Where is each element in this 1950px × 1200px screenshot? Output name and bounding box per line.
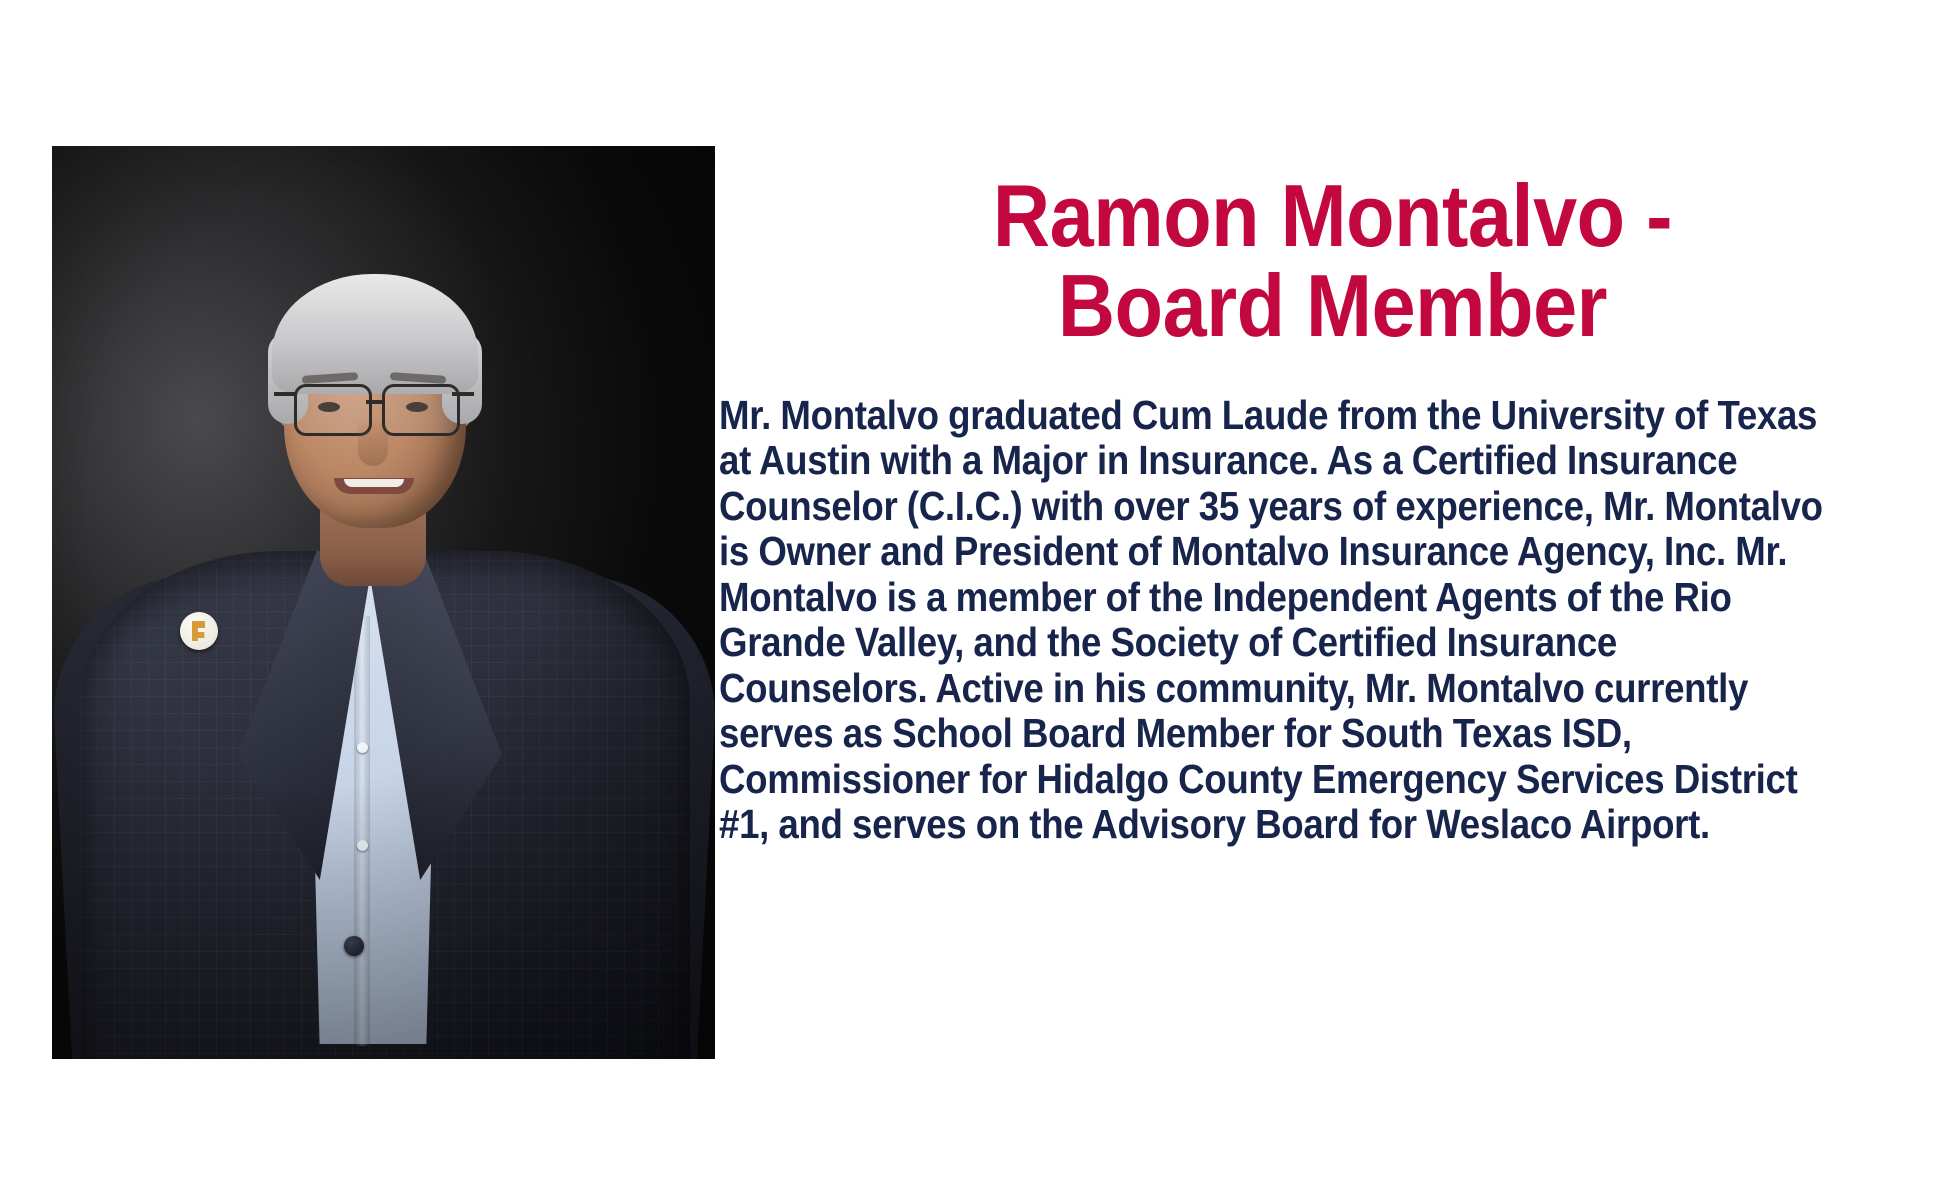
page-title: Ramon Montalvo - Board Member [777,171,1889,351]
text-column: Ramon Montalvo - Board Member Mr. Montal… [715,0,1950,1200]
portrait-vignette [52,146,715,1059]
slide-root: Ramon Montalvo - Board Member Mr. Montal… [0,0,1950,1200]
portrait-photo [52,146,715,1059]
biography-paragraph: Mr. Montalvo graduated Cum Laude from th… [719,393,1832,848]
